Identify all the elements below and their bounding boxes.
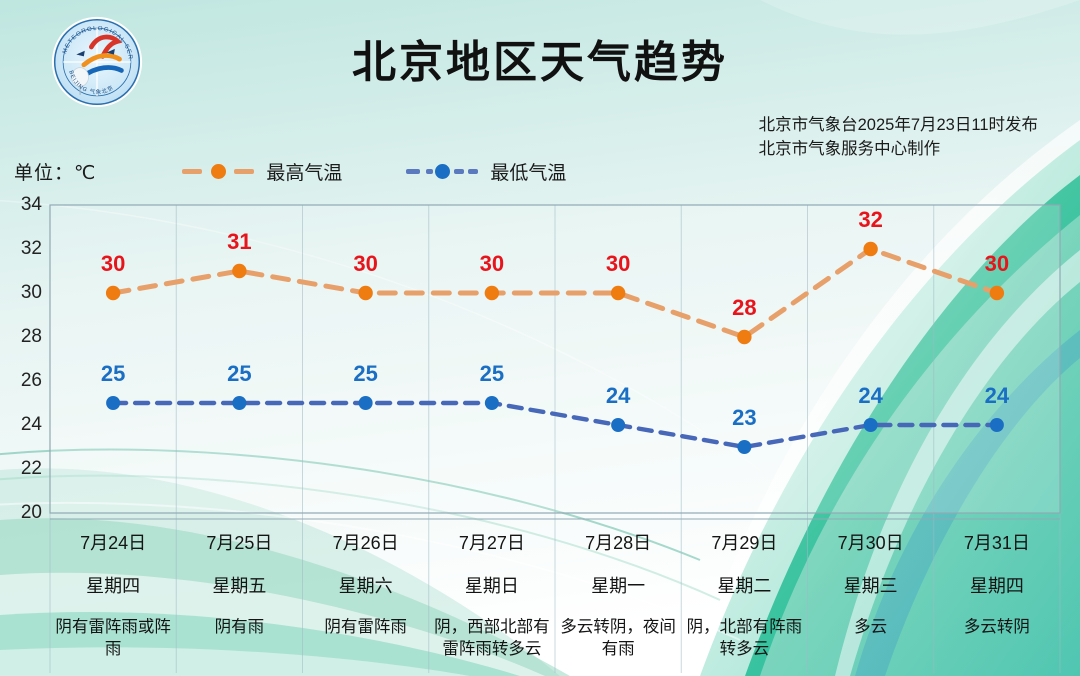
day-condition-5: 阴，北部有阵雨转多云 — [684, 616, 804, 660]
value-label-high-4: 30 — [606, 251, 630, 277]
data-point-high-3 — [485, 286, 499, 300]
value-label-low-4: 24 — [606, 383, 630, 409]
data-point-high-1 — [232, 264, 246, 278]
data-point-high-0 — [106, 286, 120, 300]
value-label-high-7: 30 — [985, 251, 1009, 277]
day-date-3: 7月27日 — [432, 532, 552, 554]
day-condition-1: 阴有雨 — [179, 616, 299, 638]
day-column-6: 7月30日星期三多云 — [808, 519, 934, 669]
value-label-high-2: 30 — [353, 251, 377, 277]
day-date-0: 7月24日 — [53, 532, 173, 554]
value-label-low-1: 25 — [227, 361, 251, 387]
data-point-low-7 — [990, 418, 1004, 432]
data-point-high-4 — [611, 286, 625, 300]
x-axis-day-columns: 7月24日星期四阴有雷阵雨或阵雨7月25日星期五阴有雨7月26日星期六阴有雷阵雨… — [50, 519, 1060, 669]
value-label-low-5: 23 — [732, 405, 756, 431]
day-date-4: 7月28日 — [558, 532, 678, 554]
day-column-2: 7月26日星期六阴有雷阵雨 — [303, 519, 429, 669]
data-point-low-6 — [864, 418, 878, 432]
value-label-low-0: 25 — [101, 361, 125, 387]
value-label-low-2: 25 — [353, 361, 377, 387]
day-date-6: 7月30日 — [811, 532, 931, 554]
value-label-high-5: 28 — [732, 295, 756, 321]
data-point-high-2 — [358, 286, 372, 300]
day-weekday-4: 星期一 — [558, 575, 678, 597]
day-date-2: 7月26日 — [306, 532, 426, 554]
value-label-high-6: 32 — [858, 207, 882, 233]
value-label-low-7: 24 — [985, 383, 1009, 409]
value-label-low-3: 25 — [480, 361, 504, 387]
value-label-high-3: 30 — [480, 251, 504, 277]
data-point-low-5 — [737, 440, 751, 454]
day-column-5: 7月29日星期二阴，北部有阵雨转多云 — [681, 519, 807, 669]
data-point-low-4 — [611, 418, 625, 432]
day-weekday-2: 星期六 — [306, 575, 426, 597]
day-column-4: 7月28日星期一多云转阴，夜间有雨 — [555, 519, 681, 669]
day-weekday-7: 星期四 — [937, 575, 1057, 597]
data-point-high-7 — [990, 286, 1004, 300]
data-point-low-2 — [359, 396, 373, 410]
value-label-low-6: 24 — [858, 383, 882, 409]
data-point-high-6 — [863, 242, 877, 256]
day-condition-2: 阴有雷阵雨 — [306, 616, 426, 638]
day-column-0: 7月24日星期四阴有雷阵雨或阵雨 — [50, 519, 176, 669]
day-weekday-0: 星期四 — [53, 575, 173, 597]
day-column-3: 7月27日星期日阴，西部北部有雷阵雨转多云 — [429, 519, 555, 669]
value-label-high-1: 31 — [227, 229, 251, 255]
day-date-7: 7月31日 — [937, 532, 1057, 554]
day-condition-7: 多云转阴 — [937, 616, 1057, 638]
data-point-high-5 — [737, 330, 751, 344]
value-label-high-0: 30 — [101, 251, 125, 277]
day-condition-4: 多云转阴，夜间有雨 — [558, 616, 678, 660]
day-weekday-3: 星期日 — [432, 575, 552, 597]
data-point-low-3 — [485, 396, 499, 410]
day-column-7: 7月31日星期四多云转阴 — [934, 519, 1060, 669]
day-date-1: 7月25日 — [179, 532, 299, 554]
day-condition-0: 阴有雷阵雨或阵雨 — [53, 616, 173, 660]
day-column-1: 7月25日星期五阴有雨 — [176, 519, 302, 669]
weather-trend-poster: METEOROLOGICAL SERVICE BEIJING 气象北京 北京地区… — [0, 0, 1080, 676]
day-condition-3: 阴，西部北部有雷阵雨转多云 — [432, 616, 552, 660]
day-condition-6: 多云 — [811, 616, 931, 638]
day-date-5: 7月29日 — [684, 532, 804, 554]
day-weekday-5: 星期二 — [684, 575, 804, 597]
data-point-low-0 — [106, 396, 120, 410]
day-weekday-6: 星期三 — [811, 575, 931, 597]
day-weekday-1: 星期五 — [179, 575, 299, 597]
data-point-low-1 — [232, 396, 246, 410]
